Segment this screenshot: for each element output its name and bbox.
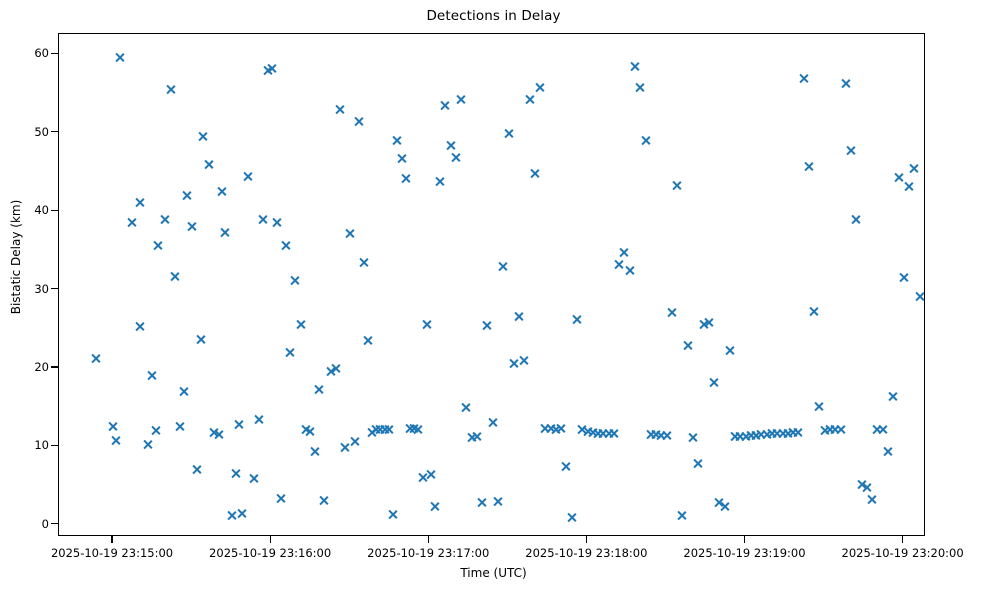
scatter-point [809,306,820,317]
scatter-plot-area[interactable] [59,34,924,535]
scatter-point [793,427,804,438]
scatter-point [824,424,835,435]
scatter-point [751,430,762,441]
scatter-point [582,426,593,437]
chart-title: Detections in Delay [0,8,987,24]
scatter-point [371,424,382,435]
scatter-point [856,479,867,490]
scatter-point [440,100,451,111]
scatter-point [430,501,441,512]
scatter-point [782,428,793,439]
scatter-point [135,321,146,332]
x-axis-tick-label: 2025-10-19 23:15:00 [51,546,173,560]
scatter-point [349,436,360,447]
scatter-point [362,335,373,346]
scatter-point [383,424,394,435]
scatter-point [197,131,208,142]
scatter-point [289,275,300,286]
scatter-point [408,423,419,434]
scatter-point [545,423,556,434]
scatter-point [608,428,619,439]
x-axis-tick-mark [111,536,112,543]
scatter-point [91,353,102,364]
scatter-point [295,319,306,330]
scatter-point [318,495,329,506]
scatter-point [687,432,698,443]
scatter-point [253,414,264,425]
scatter-point [492,496,503,507]
scatter-point [719,501,730,512]
scatter-point [819,425,830,436]
y-axis-tick-mark [51,131,58,132]
scatter-point [213,429,224,440]
scatter-point [482,320,493,331]
scatter-point [613,259,624,270]
scatter-point [708,377,719,388]
scatter-point [556,423,567,434]
scatter-point [450,152,461,163]
scatter-point [271,217,282,228]
scatter-point [682,340,693,351]
scatter-point [603,428,614,439]
scatter-point [330,363,341,374]
scatter-point [396,153,407,164]
scatter-point [619,247,630,258]
scatter-point [404,423,415,434]
scatter-point [629,61,640,72]
scatter-point [761,429,772,440]
scatter-point [830,424,841,435]
scatter-point [519,355,530,366]
scatter-point [379,424,390,435]
scatter-point [671,180,682,191]
scatter-point [909,163,920,174]
plot-frame [58,33,925,536]
scatter-point [195,334,206,345]
scatter-point [127,217,138,228]
scatter-point [777,428,788,439]
y-axis-tick-mark [51,210,58,211]
scatter-point [735,431,746,442]
scatter-point [661,430,672,441]
scatter-point [262,65,273,76]
scatter-point [174,421,185,432]
x-axis-tick-mark [744,536,745,543]
scatter-point [344,228,355,239]
scatter-point [534,82,545,93]
scatter-point [503,128,514,139]
scatter-point [803,161,814,172]
scatter-point [529,168,540,179]
scatter-point [698,319,709,330]
scatter-point [471,431,482,442]
x-axis-tick-label: 2025-10-19 23:19:00 [683,546,805,560]
x-axis-tick-mark [902,536,903,543]
y-axis-tick-label: 20 [34,360,49,374]
scatter-point [745,430,756,441]
y-axis-tick-label: 0 [42,517,49,531]
scatter-point [417,472,428,483]
y-axis-tick-mark [51,523,58,524]
scatter-point [335,104,346,115]
scatter-point [142,439,153,450]
scatter-point [882,446,893,457]
scatter-point [888,391,899,402]
scatter-point [577,424,588,435]
scatter-point [772,428,783,439]
y-axis-label: Bistatic Delay (km) [9,137,23,377]
scatter-point [366,427,377,438]
scatter-point [866,494,877,505]
scatter-point [339,442,350,453]
scatter-point [107,421,118,432]
matplotlib-figure: Detections in Delay Bistatic Delay (km) … [0,0,987,590]
scatter-point [508,358,519,369]
scatter-point [877,424,888,435]
scatter-point [898,272,909,283]
scatter-point [276,493,287,504]
scatter-point [233,419,244,430]
scatter-point [656,430,667,441]
x-axis-tick-label: 2025-10-19 23:18:00 [525,546,647,560]
scatter-point [466,432,477,443]
scatter-point [226,510,237,521]
scatter-point [425,469,436,480]
scatter-point [181,190,192,201]
scatter-point [325,366,336,377]
scatter-point [314,384,325,395]
scatter-point [513,311,524,322]
scatter-point [640,135,651,146]
scatter-point [134,197,145,208]
scatter-point [258,214,269,225]
y-axis-tick-mark [51,288,58,289]
scatter-point [387,509,398,520]
y-axis-tick-label: 40 [34,203,49,217]
scatter-point [766,428,777,439]
scatter-point [740,431,751,442]
y-axis-tick-label: 30 [34,282,49,296]
scatter-point [872,424,883,435]
scatter-point [220,227,231,238]
y-axis-tick-mark [51,445,58,446]
scatter-point [729,431,740,442]
scatter-point [487,417,498,428]
scatter-point [592,428,603,439]
y-axis-tick-mark [51,53,58,54]
scatter-point [280,240,291,251]
scatter-point [151,425,162,436]
scatter-point [787,427,798,438]
scatter-point [445,140,456,151]
scatter-point [300,424,311,435]
scatter-point [434,176,445,187]
x-axis-label: Time (UTC) [0,566,987,580]
x-axis-tick-mark [428,536,429,543]
scatter-point [561,461,572,472]
scatter-point [208,427,219,438]
y-axis-tick-mark [51,366,58,367]
scatter-point [798,73,809,84]
scatter-point [840,78,851,89]
scatter-point [170,271,181,282]
scatter-point [524,94,535,105]
scatter-point [635,82,646,93]
scatter-point [666,307,677,318]
scatter-point [598,428,609,439]
scatter-point [421,319,432,330]
scatter-point [587,427,598,438]
scatter-point [814,401,825,412]
scatter-point [159,214,170,225]
scatter-point [191,464,202,475]
scatter-point [498,261,509,272]
x-axis-tick-label: 2025-10-19 23:16:00 [209,546,331,560]
scatter-point [305,426,316,437]
scatter-point [114,52,125,63]
scatter-point [845,145,856,156]
scatter-point [147,370,158,381]
scatter-point [392,135,403,146]
scatter-point [914,291,924,302]
scatter-point [309,446,320,457]
scatter-point [893,172,904,183]
scatter-point [236,508,247,519]
scatter-point [851,214,862,225]
scatter-point [248,473,259,484]
scatter-point [242,171,253,182]
x-axis-tick-label: 2025-10-19 23:17:00 [367,546,489,560]
scatter-point [461,402,472,413]
scatter-point [203,159,214,170]
scatter-point [677,510,688,521]
scatter-point [650,429,661,440]
scatter-point [703,317,714,328]
scatter-point [861,482,872,493]
x-axis-tick-mark [586,536,587,543]
scatter-point [413,424,424,435]
scatter-point [354,116,365,127]
scatter-point [835,424,846,435]
scatter-point [566,512,577,523]
scatter-point [455,94,466,105]
scatter-point [645,429,656,440]
scatter-point [903,181,914,192]
scatter-point [165,84,176,95]
scatter-point [217,186,228,197]
scatter-point [267,63,278,74]
scatter-point [476,497,487,508]
x-axis-tick-mark [270,536,271,543]
scatter-point [624,265,635,276]
scatter-point [724,345,735,356]
x-axis-tick-label: 2025-10-19 23:20:00 [842,546,964,560]
scatter-point [714,497,725,508]
scatter-point [186,221,197,232]
scatter-point [540,423,551,434]
scatter-point [400,173,411,184]
scatter-point [571,314,582,325]
scatter-point [756,429,767,440]
scatter-point [550,424,561,435]
scatter-point [153,240,164,251]
y-axis-tick-label: 10 [34,438,49,452]
scatter-point [179,386,190,397]
scatter-point [230,468,241,479]
scatter-point [375,424,386,435]
scatter-point [693,458,704,469]
y-axis-tick-label: 60 [34,46,49,60]
y-axis-tick-label: 50 [34,125,49,139]
scatter-point [285,347,296,358]
scatter-point [358,257,369,268]
scatter-point [110,435,121,446]
